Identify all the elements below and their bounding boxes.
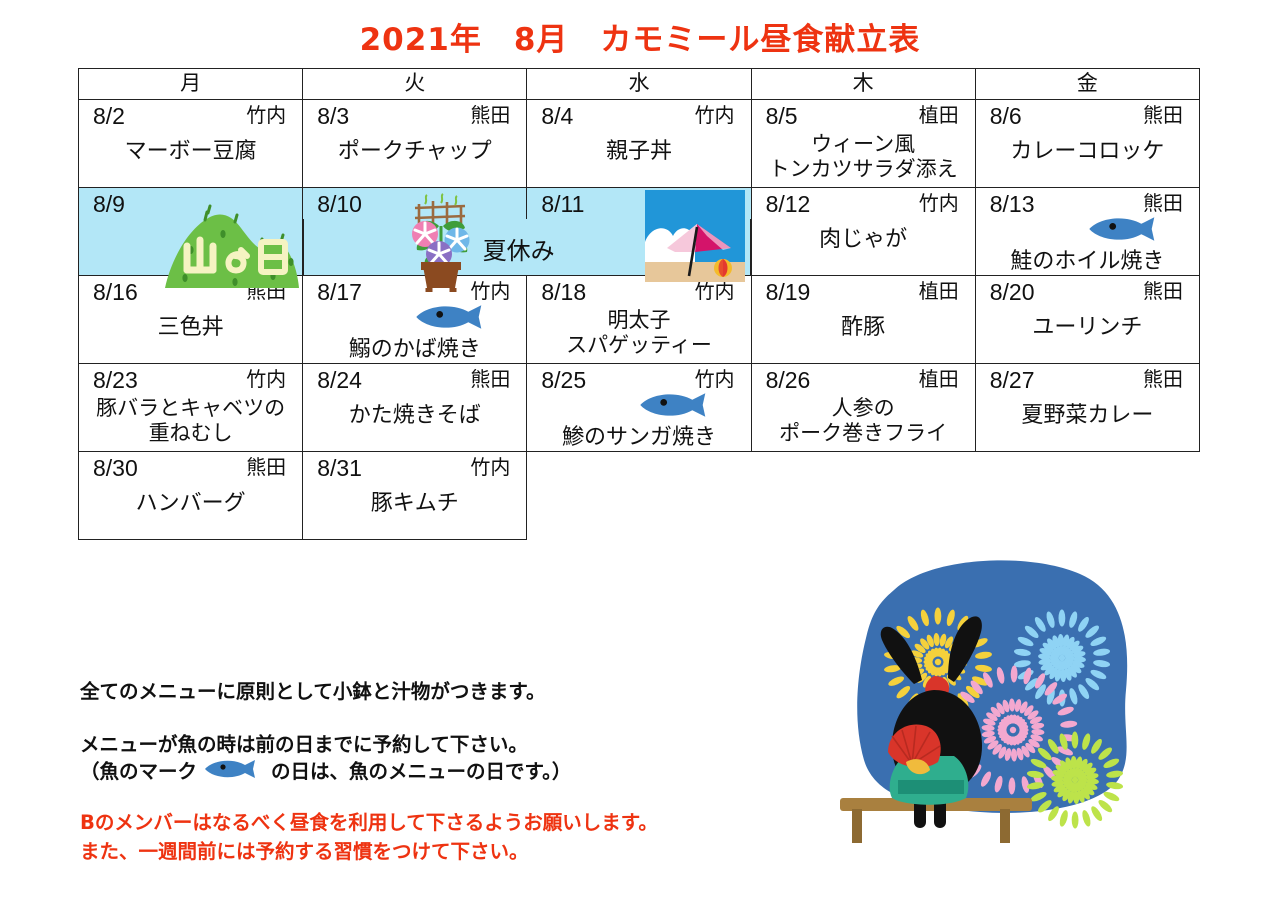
day-staff-name: 熊田: [246, 454, 286, 482]
calendar-cell-empty: [527, 452, 751, 540]
calendar-week-row: 8/16熊田三色丼8/17竹内鰯のかば焼き8/18竹内明太子 スパゲッティー8/…: [79, 276, 1200, 364]
day-menu: マーボー豆腐: [79, 130, 302, 163]
day-menu: 鰯のかば焼き: [303, 306, 526, 361]
calendar-day-cell[interactable]: 8/19植田酢豚: [751, 276, 975, 364]
day-header: 8/5植田: [752, 100, 975, 130]
calendar-day-cell[interactable]: 8/26植田人参の ポーク巻きフライ: [751, 364, 975, 452]
day-header: 8/26植田: [752, 364, 975, 394]
day-menu: 豚キムチ: [303, 482, 526, 515]
day-staff-name: 竹内: [470, 278, 510, 306]
day-header: 8/19植田: [752, 276, 975, 306]
day-staff-name: 熊田: [470, 366, 510, 394]
day-menu: ユーリンチ: [976, 306, 1199, 339]
day-date: 8/27: [990, 366, 1035, 394]
weekday-header-mon: 月: [79, 69, 303, 100]
day-header: 8/23竹内: [79, 364, 302, 394]
day-staff-name: 熊田: [1143, 102, 1183, 130]
calendar-day-cell[interactable]: 8/12竹内肉じゃが: [751, 188, 975, 276]
day-date: 8/25: [541, 366, 586, 394]
note-line-3: （魚のマーク の日は、魚のメニューの日です。）: [80, 758, 780, 786]
calendar-day-cell[interactable]: 8/13熊田鮭のホイル焼き: [975, 188, 1199, 276]
day-menu: カレーコロッケ: [976, 130, 1199, 163]
calendar-day-cell[interactable]: 8/5植田ウィーン風 トンカツサラダ添え: [751, 100, 975, 188]
day-date: 8/13: [990, 190, 1035, 218]
day-date: 8/26: [766, 366, 811, 394]
calendar-day-cell[interactable]: 8/3熊田ポークチャップ: [303, 100, 527, 188]
day-header: 8/2竹内: [79, 100, 302, 130]
day-staff-name: 熊田: [246, 278, 286, 306]
fish-icon: [203, 759, 265, 786]
day-date: 8/3: [317, 102, 349, 130]
calendar-day-cell[interactable]: 8/4竹内親子丼: [527, 100, 751, 188]
note-line-2: メニューが魚の時は前の日までに予約して下さい。: [80, 731, 780, 758]
day-staff-name: 竹内: [246, 102, 286, 130]
day-header: 8/17竹内: [303, 276, 526, 306]
day-menu: 三色丼: [79, 306, 302, 339]
day-header: 8/31竹内: [303, 452, 526, 482]
day-header: 8/11: [527, 188, 750, 218]
weekday-header-thu: 木: [751, 69, 975, 100]
day-date: 8/11: [541, 190, 584, 218]
day-header: 8/27熊田: [976, 364, 1199, 394]
day-menu: ポークチャップ: [303, 130, 526, 163]
calendar-week-row: 8/30熊田ハンバーグ8/31竹内豚キムチ: [79, 452, 1200, 540]
calendar-day-cell[interactable]: 8/16熊田三色丼: [79, 276, 303, 364]
day-staff-name: 竹内: [695, 366, 735, 394]
menu-flyer-page: 2021年 8月 カモミール昼食献立表 月 火 水 木 金 8/2竹内マーボー豆…: [0, 0, 1280, 905]
day-date: 8/6: [990, 102, 1022, 130]
note-line-1: 全てのメニューに原則として小鉢と汁物がつきます。: [80, 678, 780, 705]
day-date: 8/19: [766, 278, 811, 306]
day-header: 8/9: [79, 188, 302, 218]
note-line-3-before: （魚のマーク: [80, 760, 197, 783]
day-date: 8/20: [990, 278, 1035, 306]
calendar-day-cell[interactable]: 8/17竹内鰯のかば焼き: [303, 276, 527, 364]
calendar-day-cell[interactable]: 8/18竹内明太子 スパゲッティー: [527, 276, 751, 364]
day-menu: 鯵のサンガ焼き: [527, 394, 750, 449]
notes-red-block: Bのメンバーはなるべく昼食を利用して下さるようお願いします。 また、一週間前には…: [80, 808, 658, 866]
weekday-header-row: 月 火 水 木 金: [79, 69, 1200, 100]
calendar-day-cell[interactable]: 8/20熊田ユーリンチ: [975, 276, 1199, 364]
day-staff-name: 熊田: [1143, 366, 1183, 394]
day-menu: ウィーン風 トンカツサラダ添え: [752, 130, 975, 182]
day-header: 8/6熊田: [976, 100, 1199, 130]
note-line-3-after: の日は、魚のメニューの日です。）: [271, 760, 571, 783]
day-staff-name: 植田: [919, 102, 959, 130]
calendar-day-cell[interactable]: 8/27熊田夏野菜カレー: [975, 364, 1199, 452]
weekday-header-wed: 水: [527, 69, 751, 100]
day-date: 8/2: [93, 102, 125, 130]
calendar-day-cell[interactable]: 8/23竹内豚バラとキャベツの 重ねむし: [79, 364, 303, 452]
day-menu: 豚バラとキャベツの 重ねむし: [79, 394, 302, 446]
day-date: 8/17: [317, 278, 362, 306]
day-date: 8/30: [93, 454, 138, 482]
day-staff-name: 熊田: [1143, 278, 1183, 306]
summer-break-label: 夏休み: [483, 231, 555, 266]
fireworks-rabbit-illustration: [830, 550, 1140, 870]
day-date: 8/18: [541, 278, 586, 306]
day-header: 8/12竹内: [752, 188, 975, 218]
day-date: 8/5: [766, 102, 798, 130]
day-staff-name: 熊田: [470, 102, 510, 130]
calendar-cell-empty: [975, 452, 1199, 540]
calendar-day-cell[interactable]: 8/31竹内豚キムチ: [303, 452, 527, 540]
day-menu: 明太子 スパゲッティー: [527, 306, 750, 358]
day-staff-name: 植田: [919, 366, 959, 394]
day-menu: 肉じゃが: [752, 218, 975, 251]
day-date: 8/16: [93, 278, 138, 306]
day-date: 8/4: [541, 102, 573, 130]
page-title: 2021年 8月 カモミール昼食献立表: [0, 14, 1280, 59]
day-header: 8/30熊田: [79, 452, 302, 482]
lunch-menu-calendar: 月 火 水 木 金 8/2竹内マーボー豆腐8/3熊田ポークチャップ8/4竹内親子…: [78, 68, 1200, 540]
day-date: 8/12: [766, 190, 811, 218]
day-menu: 夏野菜カレー: [976, 394, 1199, 427]
day-date: 8/10: [317, 190, 362, 218]
day-staff-name: 竹内: [919, 190, 959, 218]
day-header: 8/4竹内: [527, 100, 750, 130]
calendar-day-cell[interactable]: 8/30熊田ハンバーグ: [79, 452, 303, 540]
weekday-header-tue: 火: [303, 69, 527, 100]
day-menu: 鮭のホイル焼き: [976, 218, 1199, 273]
day-staff-name: 竹内: [470, 454, 510, 482]
note-red-line-2: また、一週間前には予約する習慣をつけて下さい。: [80, 837, 658, 866]
day-header: 8/3熊田: [303, 100, 526, 130]
day-menu: ハンバーグ: [79, 482, 302, 515]
calendar-cell-empty: [751, 452, 975, 540]
day-date: 8/24: [317, 366, 362, 394]
day-header: 8/13熊田: [976, 188, 1199, 218]
note-red-line-1: Bのメンバーはなるべく昼食を利用して下さるようお願いします。: [80, 808, 658, 837]
day-staff-name: 竹内: [695, 278, 735, 306]
day-header: 8/10: [303, 188, 526, 218]
day-staff-name: 竹内: [695, 102, 735, 130]
day-menu: 親子丼: [527, 130, 750, 163]
day-header: 8/16熊田: [79, 276, 302, 306]
calendar-day-cell[interactable]: 8/24熊田かた焼きそば: [303, 364, 527, 452]
calendar-day-cell[interactable]: 8/6熊田カレーコロッケ: [975, 100, 1199, 188]
calendar-day-cell[interactable]: 8/9: [79, 188, 303, 276]
day-staff-name: 竹内: [246, 366, 286, 394]
day-menu: かた焼きそば: [303, 394, 526, 427]
calendar-day-cell[interactable]: 8/2竹内マーボー豆腐: [79, 100, 303, 188]
day-staff-name: 植田: [919, 278, 959, 306]
calendar-week-row: 8/2竹内マーボー豆腐8/3熊田ポークチャップ8/4竹内親子丼8/5植田ウィーン…: [79, 100, 1200, 188]
day-header: 8/25竹内: [527, 364, 750, 394]
day-menu: 酢豚: [752, 306, 975, 339]
day-menu: 人参の ポーク巻きフライ: [752, 394, 975, 446]
day-date: 8/31: [317, 454, 362, 482]
calendar-week-row: 8/23竹内豚バラとキャベツの 重ねむし8/24熊田かた焼きそば8/25竹内鯵の…: [79, 364, 1200, 452]
day-date: 8/9: [93, 190, 125, 218]
day-header: 8/18竹内: [527, 276, 750, 306]
day-header: 8/24熊田: [303, 364, 526, 394]
calendar-day-cell[interactable]: 8/25竹内鯵のサンガ焼き: [527, 364, 751, 452]
day-header: 8/20熊田: [976, 276, 1199, 306]
weekday-header-fri: 金: [975, 69, 1199, 100]
notes-block: 全てのメニューに原則として小鉢と汁物がつきます。 メニューが魚の時は前の日までに…: [80, 678, 780, 786]
day-date: 8/23: [93, 366, 138, 394]
day-staff-name: 熊田: [1143, 190, 1183, 218]
